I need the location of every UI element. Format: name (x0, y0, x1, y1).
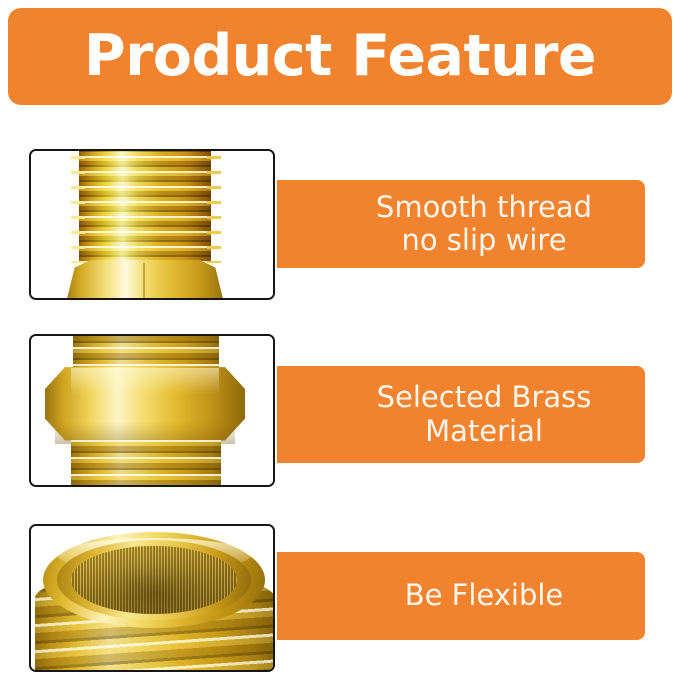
brass-fitting-image (31, 336, 273, 485)
lower-thread-section (71, 440, 221, 485)
feature-photo-panel (29, 334, 275, 487)
brass-fitting-image (31, 526, 273, 670)
feature-photo-panel (29, 149, 275, 300)
feature-row: Smooth thread no slip wire (0, 149, 679, 300)
thread-shank (79, 151, 211, 263)
feature-label-text: Selected Brass Material (377, 381, 592, 447)
thread-tip-right (207, 151, 221, 263)
feature-photo-panel (29, 524, 275, 672)
thread-highlight (79, 151, 211, 263)
feature-label-text: Smooth thread no slip wire (376, 191, 592, 257)
bore-inner-shadow (71, 546, 237, 614)
page-title: Product Feature (84, 28, 596, 85)
product-feature-header-banner: Product Feature (8, 8, 672, 105)
feature-row: Be Flexible (0, 524, 679, 672)
thread-tip-left (71, 151, 85, 263)
feature-label-box: Selected Brass Material (277, 366, 645, 463)
feature-label-box: Smooth thread no slip wire (277, 180, 645, 268)
hex-body-upper-facet (71, 368, 219, 394)
feature-label-text: Be Flexible (405, 579, 564, 612)
lower-thread-ridges (71, 440, 221, 485)
hex-base (65, 259, 225, 298)
brass-fitting-image (31, 151, 273, 298)
hex-base-facet-seam (143, 263, 145, 298)
feature-row: Selected Brass Material (0, 334, 679, 487)
feature-label-box: Be Flexible (277, 552, 645, 640)
